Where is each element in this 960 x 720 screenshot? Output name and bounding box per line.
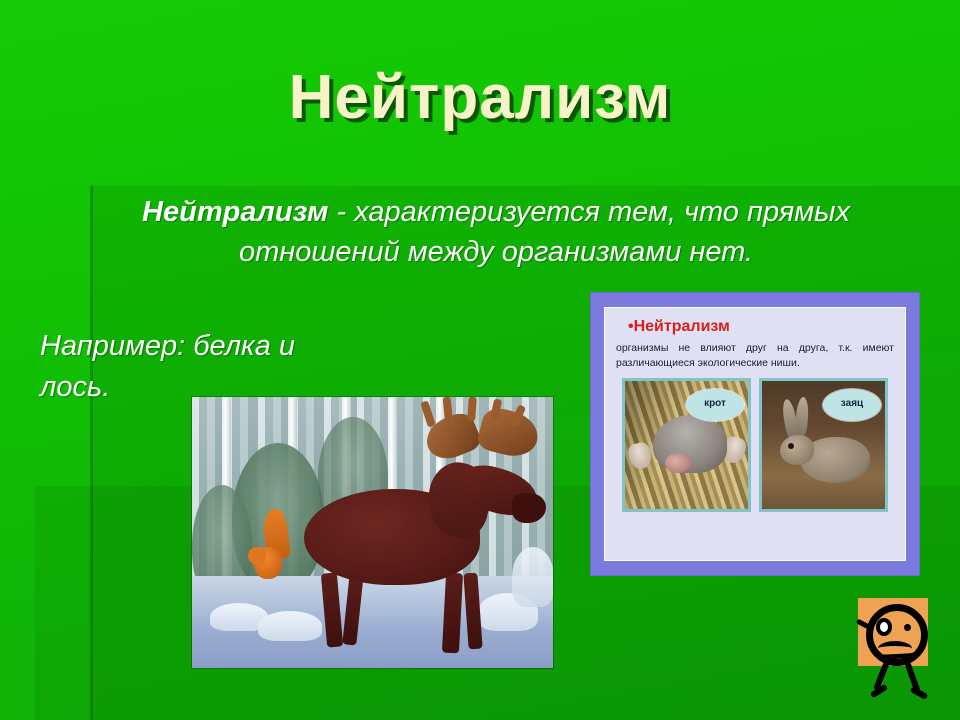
mole-paw bbox=[626, 441, 654, 472]
worried-stick-figure-icon bbox=[852, 596, 944, 706]
definition-term: Нейтрализм bbox=[142, 196, 328, 228]
inset-title: •Нейтрализм bbox=[628, 318, 896, 336]
moose-and-squirrel-image bbox=[192, 397, 553, 668]
slide-canvas: Нейтрализм Нейтрализм - характеризуется … bbox=[0, 0, 960, 720]
figure-mouth-wave bbox=[878, 641, 912, 656]
antler-spike bbox=[467, 397, 477, 421]
inset-card: •Нейтрализм организмы не влияют друг на … bbox=[604, 307, 906, 561]
snow-bush bbox=[512, 547, 553, 607]
hare-photo: заяц bbox=[759, 378, 888, 512]
mole-photo: крот bbox=[622, 378, 751, 512]
definition-rest: - характеризуется тем, что прямых отноше… bbox=[239, 196, 850, 268]
figure-foot-left bbox=[870, 684, 888, 699]
inset-photo-row: крот заяц bbox=[614, 378, 896, 512]
definition-text: Нейтрализм - характеризуется тем, что пр… bbox=[96, 192, 896, 272]
snow-mound bbox=[258, 611, 322, 641]
hare-head bbox=[780, 435, 814, 465]
squirrel-head bbox=[248, 547, 266, 565]
inset-slide-panel: •Нейтрализм организмы не влияют друг на … bbox=[590, 292, 920, 576]
figure-eye-large bbox=[876, 618, 892, 636]
panel-left-edge bbox=[90, 186, 93, 720]
example-text: Например: белка и лось. bbox=[40, 326, 370, 408]
figure-eye-small bbox=[904, 624, 911, 631]
winter-forest-scene bbox=[192, 397, 553, 668]
page-title: Нейтрализм bbox=[0, 62, 960, 133]
inset-body-text: организмы не влияют друг на друга, т.к. … bbox=[616, 341, 894, 371]
hare-ear bbox=[795, 397, 810, 438]
